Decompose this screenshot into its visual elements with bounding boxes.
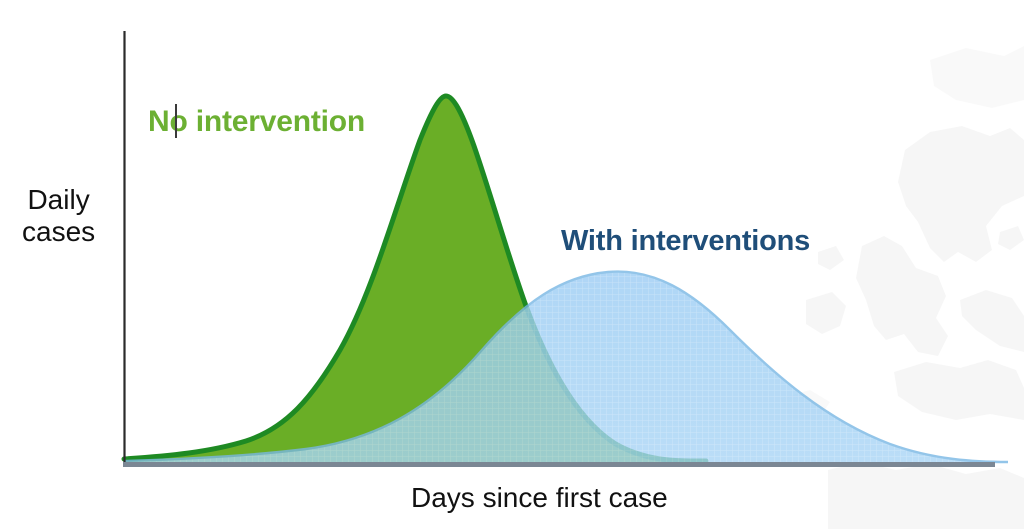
x-axis-label: Days since first case — [411, 482, 668, 514]
chart-canvas: No intervention With interventions Daily… — [0, 0, 1024, 529]
y-axis-label: Daily cases — [22, 184, 95, 248]
series-label-with-interventions: With interventions — [561, 225, 810, 258]
text-cursor-caret — [175, 104, 177, 138]
y-axis-label-line1: Daily — [22, 184, 95, 216]
series-label-no-intervention: No intervention — [148, 105, 365, 139]
y-axis-label-line2: cases — [22, 216, 95, 248]
axis-layer — [0, 0, 1024, 529]
